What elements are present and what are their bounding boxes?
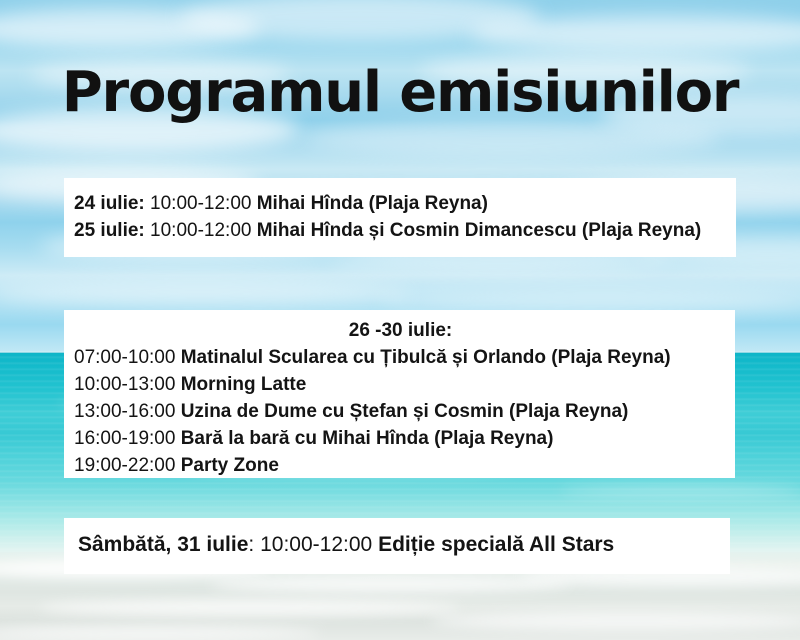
schedule-show: Mihai Hînda (Plaja Reyna) bbox=[257, 193, 488, 214]
schedule-row: 24 iulie: 10:00-12:00 Mihai Hînda (Plaja… bbox=[74, 190, 728, 217]
schedule-time: 10:00-12:00 bbox=[150, 193, 251, 214]
schedule-time: 10:00-12:00 bbox=[260, 533, 372, 556]
schedule-time: 16:00-19:00 bbox=[74, 428, 175, 449]
schedule-row: Sâmbătă, 31 iulie: 10:00-12:00 Ediție sp… bbox=[78, 530, 722, 560]
schedule-row: 10:00-13:00 Morning Latte bbox=[74, 371, 727, 398]
schedule-date: Sâmbătă, 31 iulie bbox=[78, 533, 248, 556]
schedule-date: 24 iulie: bbox=[74, 193, 145, 214]
schedule-panel-weekend-start: 24 iulie: 10:00-12:00 Mihai Hînda (Plaja… bbox=[64, 178, 736, 257]
schedule-show: Ediție specială All Stars bbox=[378, 533, 614, 556]
schedule-show: Uzina de Dume cu Ștefan și Cosmin (Plaja… bbox=[181, 401, 629, 422]
schedule-row: 25 iulie: 10:00-12:00 Mihai Hînda și Cos… bbox=[74, 217, 728, 244]
schedule-show: Mihai Hînda și Cosmin Dimancescu (Plaja … bbox=[257, 220, 702, 241]
schedule-row: 16:00-19:00 Bară la bară cu Mihai Hînda … bbox=[74, 425, 727, 452]
schedule-row: 07:00-10:00 Matinalul Scularea cu Țibulc… bbox=[74, 344, 727, 371]
schedule-row: 19:00-22:00 Party Zone bbox=[74, 452, 727, 479]
schedule-time: 07:00-10:00 bbox=[74, 347, 175, 368]
schedule-date: 25 iulie: bbox=[74, 220, 145, 241]
schedule-show: Matinalul Scularea cu Țibulcă și Orlando… bbox=[181, 347, 671, 368]
schedule-separator: : bbox=[248, 533, 254, 556]
schedule-show: Morning Latte bbox=[181, 374, 307, 395]
poster: Programul emisiunilor 24 iulie: 10:00-12… bbox=[0, 0, 800, 640]
poster-content: Programul emisiunilor 24 iulie: 10:00-12… bbox=[0, 0, 800, 640]
schedule-panel-weekdays: 26 -30 iulie: 07:00-10:00 Matinalul Scul… bbox=[64, 310, 735, 478]
page-title: Programul emisiunilor bbox=[0, 63, 800, 123]
schedule-panel-saturday: Sâmbătă, 31 iulie: 10:00-12:00 Ediție sp… bbox=[64, 518, 730, 574]
schedule-time: 19:00-22:00 bbox=[74, 455, 175, 476]
schedule-show: Bară la bară cu Mihai Hînda (Plaja Reyna… bbox=[181, 428, 554, 449]
schedule-heading: 26 -30 iulie: bbox=[74, 317, 727, 344]
schedule-time: 10:00-12:00 bbox=[150, 220, 251, 241]
schedule-time: 13:00-16:00 bbox=[74, 401, 175, 422]
schedule-time: 10:00-13:00 bbox=[74, 374, 175, 395]
schedule-row: 13:00-16:00 Uzina de Dume cu Ștefan și C… bbox=[74, 398, 727, 425]
schedule-show: Party Zone bbox=[181, 455, 279, 476]
